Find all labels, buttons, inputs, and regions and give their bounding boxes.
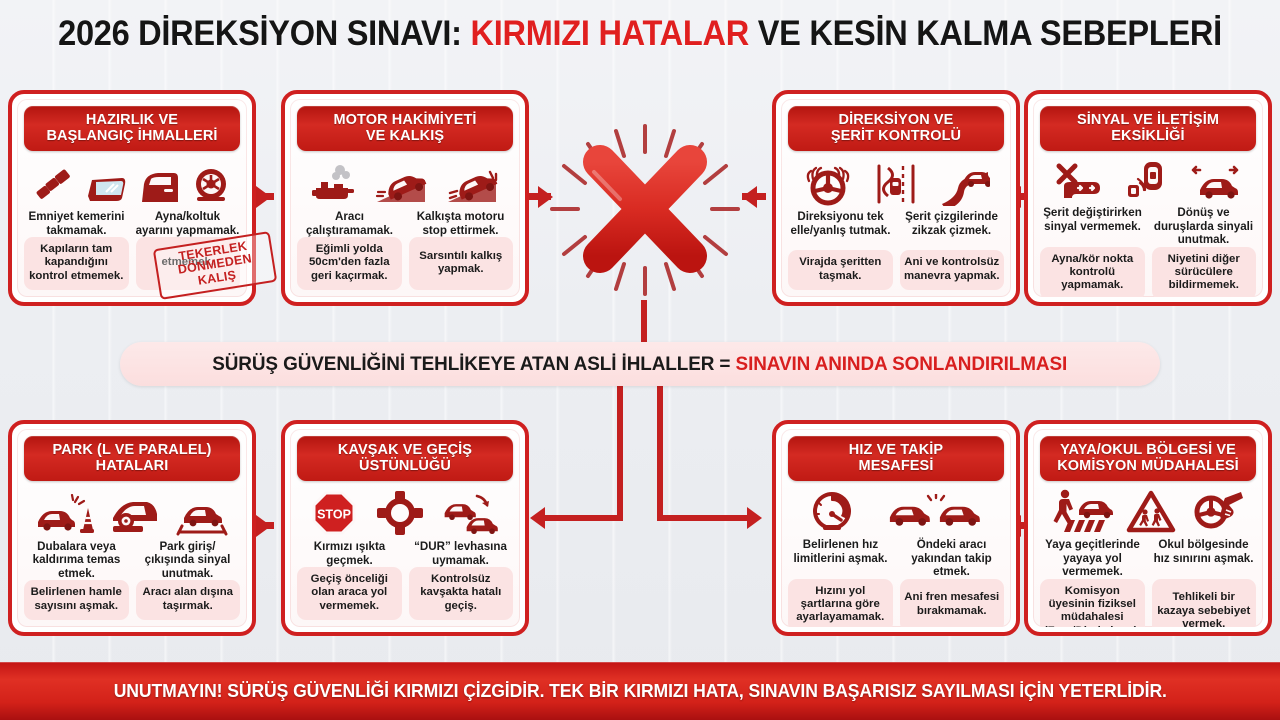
card-header: HAZIRLIK VE BAŞLANGIÇ İHMALLERİ [24, 106, 240, 151]
examiner-hand-wheel-icon [1189, 488, 1245, 534]
card-main-row: Yaya geçitlerinde yayaya yol vermemek. O… [1040, 538, 1256, 578]
card-main-item: “DUR” levhasına uymamak. [408, 540, 513, 567]
card-main-item: Park giriş/çıkışında sinyal unutmak. [135, 540, 240, 580]
car-curb-icon [109, 494, 161, 536]
card-title-line1: YAYA/OKUL BÖLGESİ VE [1060, 442, 1236, 458]
footer-banner: UNUTMAYIN! SÜRÜŞ GÜVENLİĞİ KIRMIZI ÇİZGİ… [0, 662, 1280, 720]
card-main-row: Şerit değiştirirken sinyal vermemek. Dön… [1040, 206, 1256, 246]
card-sub-item: Geçiş önceliği olan araca yol vermemek. [297, 567, 402, 620]
card-title-line2: KOMİSYON MÜDAHALESİ [1057, 458, 1239, 474]
two-cars-merge-icon [443, 494, 499, 536]
card-title-line1: KAVŞAK VE GEÇİŞ [338, 442, 472, 458]
connector-arrow-banner-to-card6 [530, 507, 545, 529]
card-main-item: Direksiyonu tek elle/yanlış tutmak. [788, 210, 893, 237]
card-title-line1: SİNYAL VE İLETİŞİM [1077, 112, 1219, 128]
card-main-item: Belirlenen hız limitlerini aşmak. [788, 538, 893, 578]
card-sub-item: Kapıların tam kapandığını kontrol etmeme… [24, 237, 129, 290]
svg-text:STOP: STOP [317, 508, 351, 522]
card-sub-item: Hızını yol şartlarına göre ayarlayamamak… [788, 579, 893, 629]
card-title-line2: ŞERİT KONTROLÜ [831, 128, 961, 144]
card-sub-item: Ayna/kör nokta kontrolü yapmamak. [1040, 247, 1145, 299]
card-direksiyon-ve-serit-kontrolu[interactable]: DİREKSİYON VE ŞERİT KONTROLÜ [772, 90, 1020, 306]
side-mirror-icon [84, 170, 128, 206]
central-banner-text: SÜRÜŞ GÜVENLİĞİNİ TEHLİKEYE ATAN ASLİ İH… [213, 353, 1068, 376]
card-sub-item: Aracı alan dışına taşırmak. [136, 580, 241, 620]
connector-arrow-card5-card6 [256, 515, 271, 537]
card-sub-item: Belirlenen hamle sayısını aşmak. [24, 580, 129, 620]
winding-road-car-icon [938, 164, 990, 206]
card-sub-item: Komisyon üyesinin fiziksel müdahalesi (F… [1040, 579, 1145, 629]
card-header: PARK (L VE PARALEL) HATALARI [24, 436, 240, 481]
engine-smoke-icon [310, 162, 358, 206]
school-zone-sign-icon [1126, 490, 1176, 534]
stop-sign-icon: STOP [311, 490, 357, 536]
car-arrows-icon [1188, 162, 1242, 202]
card-sub-row: Hızını yol şartlarına göre ayarlayamamak… [788, 579, 1004, 629]
card-title-line2: BAŞLANGIÇ İHMALLERİ [46, 128, 217, 144]
card-sub-item: Kontrolsüz kavşakta hatalı geçiş. [409, 567, 514, 620]
page-title: 2026 DİREKSİYON SINAVI: KIRMIZI HATALAR … [0, 14, 1280, 54]
connector-line-banner-down-left [617, 386, 623, 521]
car-rollback-icon [446, 168, 500, 206]
steering-wheel-hands-icon [802, 164, 854, 206]
card-title-line1: PARK (L VE PARALEL) [53, 442, 212, 458]
connector-line-banner-down-right [657, 386, 663, 521]
central-banner: SÜRÜŞ GÜVENLİĞİNİ TEHLİKEYE ATAN ASLİ İH… [120, 342, 1160, 386]
card-header: MOTOR HAKİMİYETİ VE KALKIŞ [297, 106, 513, 151]
connector-line-banner-left-horizontal [545, 515, 623, 521]
card-main-item: Dönüş ve duruşlarda sinyali unutmak. [1151, 206, 1256, 246]
card-main-row: Aracı çalıştıramamak. Kalkışta motoru st… [297, 210, 513, 237]
card-title-line1: HIZ VE TAKİP [849, 442, 943, 458]
card-main-item: Şerit değiştirirken sinyal vermemek. [1040, 206, 1145, 246]
blind-spot-mirror-icon [1124, 158, 1168, 202]
card-title-line1: HAZIRLIK VE [86, 112, 178, 128]
card-sub-item: Sarsıntılı kalkış yapmak. [409, 237, 514, 290]
card-kavsak-ve-gecis-ustunlugu[interactable]: KAVŞAK VE GEÇİŞ ÜSTÜNLÜĞÜ STOP [281, 420, 529, 636]
card-main-row: Emniyet kemerini takmamak. Ayna/koltuk a… [24, 210, 240, 237]
card-sub-row: Komisyon üyesinin fiziksel müdahalesi (F… [1040, 579, 1256, 629]
card-motor-hakimiyeti-ve-kalkis[interactable]: MOTOR HAKİMİYETİ VE KALKIŞ [281, 90, 529, 306]
card-title-line2: HATALARI [96, 458, 169, 474]
card-sub-row: Eğimli yolda 50cm'den fazla geri kaçırma… [297, 237, 513, 291]
card-main-item: Emniyet kemerini takmamak. [24, 210, 129, 237]
card-main-item: Yaya geçitlerinde yayaya yol vermemek. [1040, 538, 1145, 578]
title-part-1: 2026 DİREKSİYON SINAVI: [58, 14, 470, 53]
card-main-item: Okul bölgesinde hız sınırını aşmak. [1151, 538, 1256, 578]
title-highlight: KIRMIZI HATALAR [470, 14, 748, 53]
card-sub-item: Niyetini diğer sürücülere bildirmemek. [1152, 247, 1257, 299]
card-icon-row [1040, 158, 1256, 202]
speedometer-icon [808, 488, 856, 534]
card-header: DİREKSİYON VE ŞERİT KONTROLÜ [788, 106, 1004, 151]
card-yaya-okul-bolgesi-ve-komisyon-mudahalesi[interactable]: YAYA/OKUL BÖLGESİ VE KOMİSYON MÜDAHALESİ [1024, 420, 1272, 636]
card-sinyal-ve-iletisim-eksikligi[interactable]: SİNYAL VE İLETİŞİM EKSİKLİĞİ [1024, 90, 1272, 306]
banner-highlight: SINAVIN ANINDA SONLANDIRILMASI [736, 353, 1068, 375]
card-title-line2: MESAFESİ [859, 458, 934, 474]
car-door-icon [138, 168, 180, 206]
card-title-line1: MOTOR HAKİMİYETİ [333, 112, 476, 128]
card-sub-item: Virajda şeritten taşmak. [788, 250, 893, 290]
card-title-line2: VE KALKIŞ [366, 128, 444, 144]
card-main-row: Kırmızı ışıkta geçmek. “DUR” levhasına u… [297, 540, 513, 567]
card-hiz-ve-takip-mesafesi[interactable]: HIZ VE TAKİP MESAFESİ [772, 420, 1020, 636]
card-sub-item: Eğimli yolda 50cm'den fazla geri kaçırma… [297, 237, 402, 290]
card-title-line1: DİREKSİYON VE [839, 112, 954, 128]
card-sub-row: Geçiş önceliği olan araca yol vermemek. … [297, 567, 513, 621]
card-main-row: Dubalara veya kaldırıma temas etmek. Par… [24, 540, 240, 580]
connector-arrow-card1-card2 [256, 186, 271, 208]
card-icon-row [24, 488, 240, 536]
title-part-2: VE KESİN KALMA SEBEPLERİ [749, 14, 1222, 53]
card-header: YAYA/OKUL BÖLGESİ VE KOMİSYON MÜDAHALESİ [1040, 436, 1256, 481]
card-icon-row [1040, 488, 1256, 534]
card-header: SİNYAL VE İLETİŞİM EKSİKLİĞİ [1040, 106, 1256, 151]
tire-icon [191, 166, 231, 206]
card-icon-row [24, 158, 240, 206]
card-main-item: Öndeki aracı yakından takip etmek. [899, 538, 1004, 578]
no-turn-signal-icon [1054, 160, 1104, 202]
card-sub-row: Belirlenen hamle sayısını aşmak. Aracı a… [24, 580, 240, 621]
card-header: HIZ VE TAKİP MESAFESİ [788, 436, 1004, 481]
card-sub-row: Virajda şeritten taşmak. Ani ve kontrols… [788, 250, 1004, 291]
card-title-line2: ÜSTÜNLÜĞÜ [359, 458, 451, 474]
central-x-graphic [520, 104, 770, 344]
card-sub-item: Ani fren mesafesi bırakmamak. [900, 579, 1005, 629]
card-park-l-ve-paralel-hatalari[interactable]: PARK (L VE PARALEL) HATALARI [8, 420, 256, 636]
roundabout-icon [376, 490, 424, 536]
card-sub-item: Tehlikeli bir kazaya sebebiyet vermek. [1152, 579, 1257, 629]
rear-end-collision-icon [888, 494, 984, 534]
card-main-row: Belirlenen hız limitlerini aşmak. Öndeki… [788, 538, 1004, 578]
card-sub-item: Ani ve kontrolsüz manevra yapmak. [900, 250, 1005, 290]
banner-part-1: SÜRÜŞ GÜVENLİĞİNİ TEHLİKEYE ATAN ASLİ İH… [213, 353, 736, 375]
card-sub-row: Ayna/kör nokta kontrolü yapmamak. Niyeti… [1040, 247, 1256, 299]
card-icon-row [788, 158, 1004, 206]
card-main-item: Kırmızı ışıkta geçmek. [297, 540, 402, 567]
card-title-line2: EKSİKLİĞİ [1111, 128, 1184, 144]
connector-arrow-banner-to-card7 [747, 507, 762, 529]
card-icon-row [788, 488, 1004, 534]
connector-line-banner-right-horizontal [657, 515, 747, 521]
lane-zigzag-icon [874, 162, 918, 206]
card-main-item: Aracı çalıştıramamak. [297, 210, 402, 237]
card-main-item: Şerit çizgilerinde zikzak çizmek. [899, 210, 1004, 237]
pedestrian-crossing-icon [1051, 488, 1113, 534]
card-header: KAVŞAK VE GEÇİŞ ÜSTÜNLÜĞÜ [297, 436, 513, 481]
car-uphill-icon [375, 168, 429, 206]
seatbelt-icon [33, 166, 73, 206]
card-icon-row [297, 158, 513, 206]
card-main-item: Ayna/koltuk ayarını yapmamak. [135, 210, 240, 237]
card-main-item: Kalkışta motoru stop ettirmek. [408, 210, 513, 237]
car-parking-box-icon [176, 496, 228, 536]
card-icon-row: STOP [297, 488, 513, 536]
card-main-row: Direksiyonu tek elle/yanlış tutmak. Şeri… [788, 210, 1004, 237]
footer-text: UNUTMAYIN! SÜRÜŞ GÜVENLİĞİ KIRMIZI ÇİZGİ… [113, 680, 1166, 702]
car-cone-hit-icon [36, 494, 94, 536]
card-main-item: Dubalara veya kaldırıma temas etmek. [24, 540, 129, 580]
